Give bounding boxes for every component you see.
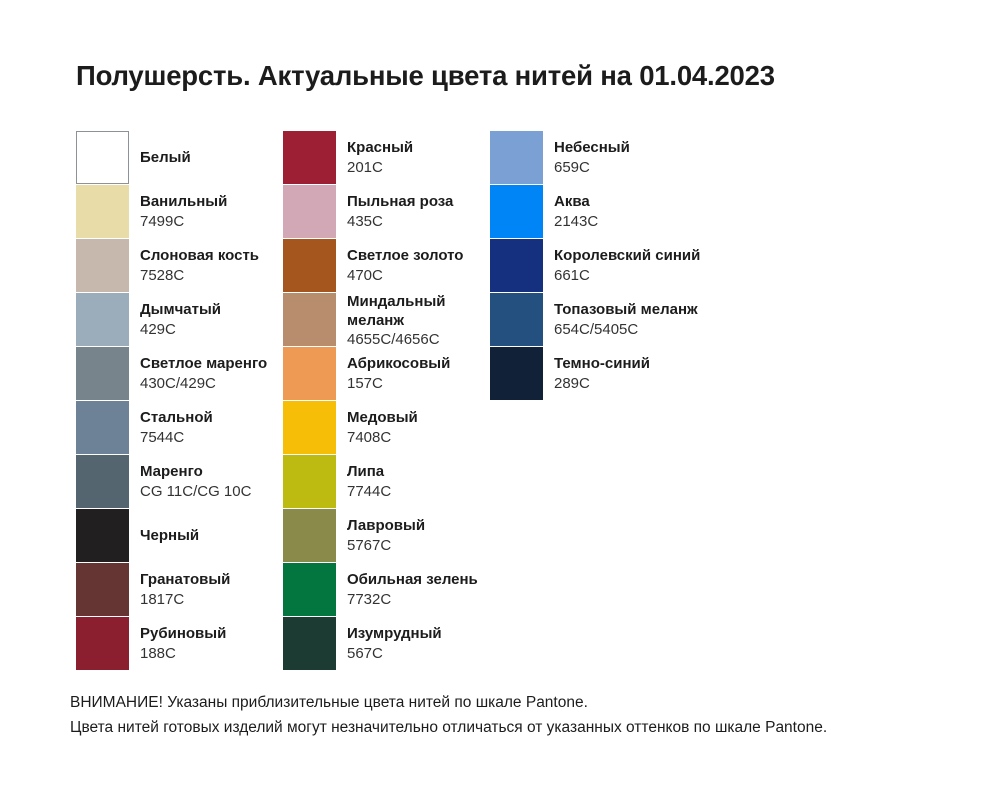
- swatch-labels: Медовый7408C: [347, 401, 418, 454]
- pantone-code: 2143C: [554, 212, 598, 231]
- color-chip[interactable]: [76, 293, 129, 346]
- color-name: Белый: [140, 149, 191, 168]
- swatch-labels: Абрикосовый157C: [347, 347, 450, 400]
- pantone-code: 157C: [347, 374, 450, 393]
- swatch-row[interactable]: Миндальный меланж4655C/4656C: [283, 293, 490, 346]
- color-chip[interactable]: [76, 455, 129, 508]
- pantone-code: 661C: [554, 266, 700, 285]
- swatch-row[interactable]: Черный: [76, 509, 283, 562]
- color-chip[interactable]: [76, 617, 129, 670]
- pantone-code: 201C: [347, 158, 413, 177]
- disclaimer-line-2: Цвета нитей готовых изделий могут незнач…: [70, 715, 827, 740]
- color-chip[interactable]: [76, 563, 129, 616]
- color-name: Стальной: [140, 409, 213, 428]
- swatch-labels: Светлое маренго430C/429C: [140, 347, 267, 400]
- color-name: Слоновая кость: [140, 247, 259, 266]
- color-name: Гранатовый: [140, 571, 230, 590]
- pantone-code: 5767C: [347, 536, 425, 555]
- swatch-row[interactable]: Пыльная роза435C: [283, 185, 490, 238]
- color-chip[interactable]: [283, 401, 336, 454]
- color-chip[interactable]: [76, 131, 129, 184]
- color-chip[interactable]: [283, 617, 336, 670]
- swatch-row[interactable]: Небесный659C: [490, 131, 750, 184]
- swatch-labels: Гранатовый1817C: [140, 563, 230, 616]
- color-name: Медовый: [347, 409, 418, 428]
- column-warm: Красный201CПыльная роза435CСветлое золот…: [283, 131, 490, 671]
- color-name: Ванильный: [140, 193, 227, 212]
- color-chip[interactable]: [283, 455, 336, 508]
- color-name: Дымчатый: [140, 301, 221, 320]
- color-name: Светлое маренго: [140, 355, 267, 374]
- swatch-labels: Топазовый меланж654C/5405C: [554, 293, 698, 346]
- swatch-row[interactable]: Рубиновый188C: [76, 617, 283, 670]
- color-name: Топазовый меланж: [554, 301, 698, 320]
- swatch-labels: Белый: [140, 131, 191, 184]
- swatch-row[interactable]: Лавровый5767C: [283, 509, 490, 562]
- swatch-row[interactable]: Изумрудный567C: [283, 617, 490, 670]
- color-chip[interactable]: [490, 131, 543, 184]
- color-chip[interactable]: [490, 239, 543, 292]
- swatch-row[interactable]: Обильная зелень7732C: [283, 563, 490, 616]
- swatch-labels: Аква2143C: [554, 185, 598, 238]
- color-chip[interactable]: [76, 347, 129, 400]
- swatch-labels: Пыльная роза435C: [347, 185, 453, 238]
- swatch-row[interactable]: Светлое золото470C: [283, 239, 490, 292]
- pantone-code: 289C: [554, 374, 650, 393]
- swatch-row[interactable]: Светлое маренго430C/429C: [76, 347, 283, 400]
- color-chip[interactable]: [490, 185, 543, 238]
- swatch-labels: Миндальный меланж4655C/4656C: [347, 293, 487, 346]
- swatch-labels: Стальной7544C: [140, 401, 213, 454]
- swatch-labels: Темно-синий289C: [554, 347, 650, 400]
- swatch-labels: Изумрудный567C: [347, 617, 442, 670]
- color-chip[interactable]: [283, 509, 336, 562]
- pantone-code: 435C: [347, 212, 453, 231]
- swatch-labels: Дымчатый429C: [140, 293, 221, 346]
- swatch-row[interactable]: Темно-синий289C: [490, 347, 750, 400]
- color-name: Королевский синий: [554, 247, 700, 266]
- pantone-code: 659C: [554, 158, 630, 177]
- swatch-row[interactable]: Абрикосовый157C: [283, 347, 490, 400]
- swatch-labels: МаренгоCG 11C/CG 10C: [140, 455, 251, 508]
- color-name: Аква: [554, 193, 598, 212]
- swatch-row[interactable]: Медовый7408C: [283, 401, 490, 454]
- pantone-code: 7499C: [140, 212, 227, 231]
- color-name: Изумрудный: [347, 625, 442, 644]
- pantone-code: 567C: [347, 644, 442, 663]
- swatch-row[interactable]: Стальной7544C: [76, 401, 283, 454]
- disclaimer: ВНИМАНИЕ! Указаны приблизительные цвета …: [70, 690, 827, 740]
- color-chip[interactable]: [283, 293, 336, 346]
- pantone-code: 7408C: [347, 428, 418, 447]
- color-chart-page: Полушерсть. Актуальные цвета нитей на 01…: [0, 0, 1000, 801]
- pantone-code: 7744C: [347, 482, 391, 501]
- color-name: Липа: [347, 463, 391, 482]
- swatch-labels: Рубиновый188C: [140, 617, 226, 670]
- swatch-row[interactable]: Слоновая кость7528C: [76, 239, 283, 292]
- color-name: Лавровый: [347, 517, 425, 536]
- pantone-code: 1817C: [140, 590, 230, 609]
- color-name: Небесный: [554, 139, 630, 158]
- color-chip[interactable]: [76, 401, 129, 454]
- pantone-code: 188C: [140, 644, 226, 663]
- color-name: Темно-синий: [554, 355, 650, 374]
- pantone-code: 7732C: [347, 590, 478, 609]
- swatch-labels: Обильная зелень7732C: [347, 563, 478, 616]
- swatch-row[interactable]: Королевский синий661C: [490, 239, 750, 292]
- color-chip[interactable]: [283, 347, 336, 400]
- color-name: Пыльная роза: [347, 193, 453, 212]
- swatch-labels: Небесный659C: [554, 131, 630, 184]
- swatch-row[interactable]: Гранатовый1817C: [76, 563, 283, 616]
- pantone-code: 7544C: [140, 428, 213, 447]
- color-chip[interactable]: [76, 239, 129, 292]
- color-name: Маренго: [140, 463, 251, 482]
- pantone-code: 470C: [347, 266, 463, 285]
- color-name: Черный: [140, 527, 199, 546]
- swatch-labels: Липа7744C: [347, 455, 391, 508]
- color-chip[interactable]: [490, 347, 543, 400]
- column-blues: Небесный659CАква2143CКоролевский синий66…: [490, 131, 750, 671]
- pantone-code: 429C: [140, 320, 221, 339]
- swatch-row[interactable]: Ванильный7499C: [76, 185, 283, 238]
- color-chip[interactable]: [76, 185, 129, 238]
- swatch-labels: Слоновая кость7528C: [140, 239, 259, 292]
- pantone-code: 7528C: [140, 266, 259, 285]
- color-chip[interactable]: [283, 563, 336, 616]
- swatch-labels: Красный201C: [347, 131, 413, 184]
- swatch-row[interactable]: Аква2143C: [490, 185, 750, 238]
- disclaimer-line-1: ВНИМАНИЕ! Указаны приблизительные цвета …: [70, 690, 827, 715]
- swatch-labels: Черный: [140, 509, 199, 562]
- swatch-row[interactable]: Липа7744C: [283, 455, 490, 508]
- swatch-row[interactable]: Топазовый меланж654C/5405C: [490, 293, 750, 346]
- color-chip[interactable]: [283, 239, 336, 292]
- swatch-columns: БелыйВанильный7499CСлоновая кость7528CДы…: [76, 131, 956, 671]
- color-chip[interactable]: [283, 185, 336, 238]
- pantone-code: 654C/5405C: [554, 320, 698, 339]
- swatch-labels: Лавровый5767C: [347, 509, 425, 562]
- swatch-labels: Королевский синий661C: [554, 239, 700, 292]
- swatch-row[interactable]: МаренгоCG 11C/CG 10C: [76, 455, 283, 508]
- pantone-code: 430C/429C: [140, 374, 267, 393]
- color-chip[interactable]: [283, 131, 336, 184]
- color-name: Миндальный меланж: [347, 293, 487, 330]
- swatch-row[interactable]: Дымчатый429C: [76, 293, 283, 346]
- color-name: Светлое золото: [347, 247, 463, 266]
- color-name: Обильная зелень: [347, 571, 478, 590]
- pantone-code: CG 11C/CG 10C: [140, 482, 251, 501]
- swatch-row[interactable]: Белый: [76, 131, 283, 184]
- swatch-labels: Ванильный7499C: [140, 185, 227, 238]
- column-neutrals: БелыйВанильный7499CСлоновая кость7528CДы…: [76, 131, 283, 671]
- color-chip[interactable]: [76, 509, 129, 562]
- color-name: Абрикосовый: [347, 355, 450, 374]
- color-name: Красный: [347, 139, 413, 158]
- swatch-row[interactable]: Красный201C: [283, 131, 490, 184]
- color-chip[interactable]: [490, 293, 543, 346]
- swatch-labels: Светлое золото470C: [347, 239, 463, 292]
- page-title: Полушерсть. Актуальные цвета нитей на 01…: [76, 60, 775, 92]
- color-name: Рубиновый: [140, 625, 226, 644]
